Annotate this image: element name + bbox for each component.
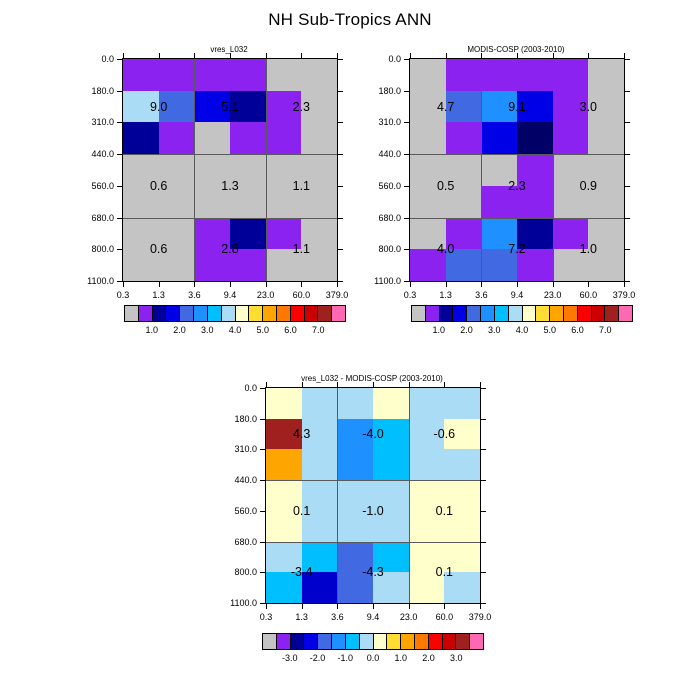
heatmap-cell <box>517 59 553 91</box>
heatmap-cell <box>266 218 302 250</box>
y-axis-tick <box>480 480 486 481</box>
y-axis-tick-label: 0.0 <box>244 383 257 393</box>
y-axis-tick <box>117 154 123 155</box>
x-axis-tick <box>266 603 267 609</box>
heatmap-cell <box>301 218 337 250</box>
x-axis-tick-label: 9.4 <box>511 290 524 300</box>
heatmap-cell <box>553 59 589 91</box>
x-axis-tick <box>481 281 482 287</box>
panel-obs-title: MODIS-COSP (2003-2010) <box>409 45 623 54</box>
heatmap-cell <box>302 480 338 511</box>
difference-colorbar-strip <box>262 633 484 650</box>
heatmap-cell <box>266 449 302 480</box>
y-axis-tick-label: 180.0 <box>234 414 257 424</box>
colorbar-swatch <box>222 306 236 321</box>
x-axis-tick-label: 379.0 <box>469 612 492 622</box>
x-axis-tick <box>337 53 338 59</box>
x-axis-tick <box>446 281 447 287</box>
heatmap-cell <box>409 480 445 511</box>
colorbar-swatch <box>263 634 277 649</box>
heatmap-cell <box>266 122 302 154</box>
heatmap-cell <box>266 249 302 281</box>
colorbar-swatch <box>429 634 443 649</box>
heatmap-cell <box>159 59 195 91</box>
heatmap-cell <box>230 186 266 218</box>
heatmap-cell <box>373 419 409 450</box>
figure-title: NH Sub-Tropics ANN <box>0 10 700 30</box>
heatmap-cell <box>481 186 517 218</box>
y-axis-tick <box>480 511 486 512</box>
colorbar-tick-label: 7.0 <box>599 325 612 335</box>
colorbar-swatch <box>550 306 564 321</box>
heatmap-cell <box>230 154 266 186</box>
heatmap-cell <box>230 249 266 281</box>
heatmap-cell <box>410 186 446 218</box>
x-axis-tick <box>373 382 374 388</box>
heatmap-cell <box>588 91 624 123</box>
y-axis-tick-label: 680.0 <box>234 537 257 547</box>
colorbar-swatch <box>495 306 509 321</box>
heatmap-cell <box>517 91 553 123</box>
y-axis-tick <box>480 388 486 389</box>
heatmap-cell <box>588 122 624 154</box>
heatmap-cell <box>446 154 482 186</box>
colorbar-swatch <box>415 634 429 649</box>
x-axis-tick <box>410 53 411 59</box>
heatmap-cell <box>373 511 409 542</box>
colorbar-swatch <box>523 306 537 321</box>
colorbar-tick-label: 6.0 <box>284 325 297 335</box>
x-axis-tick-label: 0.3 <box>404 290 417 300</box>
panel-difference: vres_L032 - MODIS-COSP (2003-2010) 4.3-4… <box>265 387 479 602</box>
x-axis-tick <box>266 281 267 287</box>
x-axis-tick <box>194 53 195 59</box>
heatmap-cell <box>230 122 266 154</box>
heatmap-cell <box>410 218 446 250</box>
heatmap-cell <box>302 388 338 419</box>
y-axis-tick <box>260 542 266 543</box>
y-axis-tick-label: 0.0 <box>388 54 401 64</box>
colorbar-swatch <box>387 634 401 649</box>
y-axis-tick-label: 440.0 <box>378 149 401 159</box>
y-axis-tick-label: 180.0 <box>91 86 114 96</box>
y-axis-tick <box>404 249 410 250</box>
x-axis-tick <box>517 53 518 59</box>
heatmap-cell <box>194 154 230 186</box>
panel-obs-plot: 4.79.13.00.52.30.94.07.21.0 0.0180.0310.… <box>409 58 625 282</box>
colorbar-tick-label: 3.0 <box>201 325 214 335</box>
heatmap-cell <box>301 186 337 218</box>
colorbar-swatch <box>346 634 360 649</box>
heatmap-cell <box>444 511 480 542</box>
x-axis-tick-label: 379.0 <box>613 290 636 300</box>
y-axis-tick-label: 440.0 <box>234 475 257 485</box>
x-axis-tick <box>517 281 518 287</box>
y-axis-tick-label: 0.0 <box>101 54 114 64</box>
heatmap-cell <box>194 218 230 250</box>
panel-model-title: vres_L032 <box>122 45 336 54</box>
colorbar-swatch <box>619 306 632 321</box>
x-axis-tick <box>409 603 410 609</box>
colorbar-tick-label: 2.0 <box>422 653 435 663</box>
x-axis-tick-label: 23.0 <box>257 290 275 300</box>
y-axis-tick <box>117 186 123 187</box>
y-axis-tick <box>117 122 123 123</box>
model-colorbar-strip <box>124 305 346 322</box>
obs-colorbar-strip <box>411 305 633 322</box>
y-axis-tick-label: 560.0 <box>234 506 257 516</box>
x-axis-tick-label: 60.0 <box>293 290 311 300</box>
colorbar-swatch <box>374 634 388 649</box>
heatmap-cell <box>337 572 373 603</box>
heatmap-cell <box>337 388 373 419</box>
x-axis-tick-label: 60.0 <box>580 290 598 300</box>
colorbar-tick-label: 1.0 <box>145 325 158 335</box>
panel-model: vres_L032 9.05.12.30.61.31.10.62.81.1 0.… <box>122 58 336 280</box>
heatmap-cell <box>230 59 266 91</box>
heatmap-cell <box>194 59 230 91</box>
colorbar-tick-label: 2.0 <box>173 325 186 335</box>
x-axis-tick-label: 1.3 <box>439 290 452 300</box>
x-axis-tick <box>588 53 589 59</box>
heatmap-cell <box>588 59 624 91</box>
colorbar-swatch <box>443 634 457 649</box>
heatmap-cell <box>123 249 159 281</box>
x-axis-tick-label: 23.0 <box>544 290 562 300</box>
y-axis-tick <box>337 91 343 92</box>
heatmap-cell <box>123 122 159 154</box>
heatmap-cell <box>553 122 589 154</box>
x-axis-tick-label: 9.4 <box>367 612 380 622</box>
y-axis-tick-label: 1100.0 <box>374 276 401 286</box>
y-axis-tick <box>117 91 123 92</box>
heatmap-cell <box>410 59 446 91</box>
y-axis-tick-label: 180.0 <box>378 86 401 96</box>
heatmap-cell <box>337 449 373 480</box>
colorbar-swatch <box>536 306 550 321</box>
colorbar-swatch <box>153 306 167 321</box>
heatmap-cell <box>301 249 337 281</box>
x-axis-tick <box>480 603 481 609</box>
heatmap-cell <box>481 59 517 91</box>
heatmap-cell <box>266 511 302 542</box>
heatmap-cell <box>302 449 338 480</box>
heatmap-cell <box>230 91 266 123</box>
panel-difference-plot: 4.3-4.0-0.60.1-1.00.1-3.4-4.30.1 0.0180.… <box>265 387 481 604</box>
heatmap-cell <box>194 186 230 218</box>
y-axis-tick <box>480 542 486 543</box>
x-axis-tick-label: 3.6 <box>188 290 201 300</box>
heatmap-cell <box>588 154 624 186</box>
panel-model-cells <box>123 59 337 281</box>
heatmap-cell <box>266 91 302 123</box>
heatmap-cell <box>194 249 230 281</box>
heatmap-cell <box>410 91 446 123</box>
panel-obs-cells <box>410 59 624 281</box>
x-axis-tick <box>159 53 160 59</box>
colorbar-tick-label: 4.0 <box>229 325 242 335</box>
x-axis-tick <box>337 382 338 388</box>
heatmap-cell <box>409 419 445 450</box>
y-axis-tick <box>337 218 343 219</box>
colorbar-swatch <box>263 306 277 321</box>
y-axis-tick-label: 800.0 <box>234 567 257 577</box>
x-axis-tick <box>301 281 302 287</box>
x-axis-tick <box>230 281 231 287</box>
colorbar-tick-label: 2.0 <box>460 325 473 335</box>
colorbar-swatch <box>125 306 139 321</box>
y-axis-tick <box>117 249 123 250</box>
x-axis-tick <box>444 382 445 388</box>
colorbar-tick-label: 6.0 <box>571 325 584 335</box>
colorbar-tick-label: 1.0 <box>394 653 407 663</box>
y-axis-tick <box>624 186 630 187</box>
colorbar-tick-label: -2.0 <box>310 653 326 663</box>
x-axis-tick <box>624 281 625 287</box>
colorbar-swatch <box>249 306 263 321</box>
colorbar-swatch <box>456 634 470 649</box>
colorbar-swatch <box>139 306 153 321</box>
heatmap-cell <box>159 218 195 250</box>
heatmap-cell <box>159 249 195 281</box>
colorbar-swatch <box>481 306 495 321</box>
y-axis-tick <box>337 186 343 187</box>
x-axis-tick-label: 3.6 <box>475 290 488 300</box>
heatmap-cell <box>553 218 589 250</box>
heatmap-cell <box>446 249 482 281</box>
panel-model-plot: 9.05.12.30.61.31.10.62.81.1 0.0180.0310.… <box>122 58 338 282</box>
heatmap-cell <box>446 91 482 123</box>
colorbar-swatch <box>236 306 250 321</box>
y-axis-tick-label: 800.0 <box>378 244 401 254</box>
colorbar-swatch <box>208 306 222 321</box>
x-axis-tick <box>480 382 481 388</box>
heatmap-cell <box>444 388 480 419</box>
colorbar-tick-label: 5.0 <box>543 325 556 335</box>
y-axis-tick <box>624 249 630 250</box>
heatmap-cell <box>373 480 409 511</box>
y-axis-tick <box>260 480 266 481</box>
colorbar-swatch <box>166 306 180 321</box>
colorbar-tick-label: -3.0 <box>282 653 298 663</box>
x-axis-tick-label: 0.3 <box>260 612 273 622</box>
x-axis-tick <box>373 603 374 609</box>
y-axis-tick <box>624 91 630 92</box>
colorbar-swatch <box>194 306 208 321</box>
heatmap-cell <box>444 542 480 573</box>
heatmap-cell <box>373 449 409 480</box>
x-axis-tick <box>337 281 338 287</box>
colorbar-swatch <box>412 306 426 321</box>
heatmap-cell <box>409 572 445 603</box>
heatmap-cell <box>444 572 480 603</box>
heatmap-cell <box>409 388 445 419</box>
heatmap-cell <box>123 91 159 123</box>
colorbar-swatch <box>180 306 194 321</box>
x-axis-tick-label: 379.0 <box>326 290 349 300</box>
y-axis-tick <box>260 388 266 389</box>
x-axis-tick <box>553 53 554 59</box>
colorbar-swatch <box>318 306 332 321</box>
y-axis-tick-label: 680.0 <box>91 213 114 223</box>
heatmap-cell <box>230 218 266 250</box>
y-axis-tick <box>404 186 410 187</box>
heatmap-cell <box>446 186 482 218</box>
heatmap-cell <box>159 91 195 123</box>
panel-obs: MODIS-COSP (2003-2010) 4.79.13.00.52.30.… <box>409 58 623 280</box>
heatmap-cell <box>337 542 373 573</box>
heatmap-cell <box>553 249 589 281</box>
colorbar-swatch <box>470 634 483 649</box>
x-axis-tick <box>446 53 447 59</box>
y-axis-tick <box>260 449 266 450</box>
heatmap-cell <box>159 154 195 186</box>
y-axis-tick <box>480 572 486 573</box>
x-axis-tick <box>409 382 410 388</box>
x-axis-tick <box>588 281 589 287</box>
colorbar-swatch <box>332 634 346 649</box>
colorbar-swatch <box>304 634 318 649</box>
colorbar-tick-label: 4.0 <box>516 325 529 335</box>
heatmap-cell <box>517 249 553 281</box>
heatmap-cell <box>517 122 553 154</box>
x-axis-tick-label: 9.4 <box>224 290 237 300</box>
heatmap-cell <box>588 218 624 250</box>
heatmap-cell <box>481 154 517 186</box>
y-axis-tick <box>117 218 123 219</box>
colorbar-swatch <box>426 306 440 321</box>
y-axis-tick <box>260 511 266 512</box>
heatmap-cell <box>409 449 445 480</box>
x-axis-tick <box>444 603 445 609</box>
heatmap-cell <box>123 218 159 250</box>
x-axis-tick-label: 1.3 <box>295 612 308 622</box>
heatmap-cell <box>444 449 480 480</box>
x-axis-tick <box>230 53 231 59</box>
heatmap-cell <box>517 154 553 186</box>
heatmap-cell <box>266 419 302 450</box>
heatmap-cell <box>266 388 302 419</box>
heatmap-cell <box>446 59 482 91</box>
y-axis-tick <box>480 449 486 450</box>
heatmap-cell <box>266 59 302 91</box>
heatmap-cell <box>481 249 517 281</box>
colorbar-swatch <box>277 306 291 321</box>
colorbar-swatch <box>305 306 319 321</box>
colorbar-swatch <box>291 634 305 649</box>
heatmap-cell <box>266 480 302 511</box>
heatmap-cell <box>517 186 553 218</box>
x-axis-tick <box>123 281 124 287</box>
heatmap-cell <box>481 122 517 154</box>
heatmap-cell <box>446 122 482 154</box>
heatmap-cell <box>588 249 624 281</box>
heatmap-cell <box>337 480 373 511</box>
heatmap-cell <box>123 186 159 218</box>
y-axis-tick <box>337 249 343 250</box>
colorbar-swatch <box>605 306 619 321</box>
heatmap-cell <box>301 122 337 154</box>
x-axis-tick-label: 3.6 <box>331 612 344 622</box>
colorbar-swatch <box>440 306 454 321</box>
colorbar-tick-label: -1.0 <box>337 653 353 663</box>
heatmap-cell <box>553 91 589 123</box>
heatmap-cell <box>337 419 373 450</box>
y-axis-tick <box>624 59 630 60</box>
y-axis-tick <box>624 122 630 123</box>
x-axis-tick <box>266 382 267 388</box>
x-axis-tick-label: 0.3 <box>117 290 130 300</box>
panel-difference-title: vres_L032 - MODIS-COSP (2003-2010) <box>265 374 479 383</box>
colorbar-swatch <box>332 306 345 321</box>
heatmap-cell <box>481 91 517 123</box>
y-axis-tick <box>337 122 343 123</box>
heatmap-cell <box>444 419 480 450</box>
colorbar-swatch <box>453 306 467 321</box>
x-axis-tick <box>302 382 303 388</box>
colorbar-swatch <box>401 634 415 649</box>
heatmap-cell <box>373 542 409 573</box>
x-axis-tick <box>302 603 303 609</box>
y-axis-tick-label: 1100.0 <box>230 598 257 608</box>
heatmap-cell <box>444 480 480 511</box>
y-axis-tick <box>404 59 410 60</box>
heatmap-cell <box>302 419 338 450</box>
heatmap-cell <box>194 91 230 123</box>
y-axis-tick <box>404 91 410 92</box>
y-axis-tick <box>260 419 266 420</box>
heatmap-cell <box>410 122 446 154</box>
y-axis-tick-label: 560.0 <box>91 181 114 191</box>
colorbar-swatch <box>592 306 606 321</box>
colorbar-tick-label: 7.0 <box>312 325 325 335</box>
heatmap-cell <box>266 154 302 186</box>
x-axis-tick <box>624 53 625 59</box>
x-axis-tick <box>337 603 338 609</box>
y-axis-tick <box>624 154 630 155</box>
x-axis-tick-label: 60.0 <box>436 612 454 622</box>
y-axis-tick <box>117 59 123 60</box>
heatmap-cell <box>446 218 482 250</box>
x-axis-tick <box>481 53 482 59</box>
colorbar-swatch <box>467 306 481 321</box>
colorbar-swatch <box>291 306 305 321</box>
heatmap-cell <box>301 59 337 91</box>
heatmap-cell <box>553 186 589 218</box>
y-axis-tick-label: 800.0 <box>91 244 114 254</box>
y-axis-tick-label: 310.0 <box>234 444 257 454</box>
colorbar-swatch <box>509 306 523 321</box>
y-axis-tick-label: 440.0 <box>91 149 114 159</box>
y-axis-tick <box>404 218 410 219</box>
heatmap-cell <box>266 186 302 218</box>
colorbar-swatch <box>564 306 578 321</box>
heatmap-cell <box>337 511 373 542</box>
x-axis-tick <box>301 53 302 59</box>
heatmap-cell <box>302 542 338 573</box>
x-axis-tick-label: 1.3 <box>152 290 165 300</box>
heatmap-cell <box>266 542 302 573</box>
heatmap-cell <box>588 186 624 218</box>
y-axis-tick <box>337 154 343 155</box>
colorbar-tick-label: 5.0 <box>256 325 269 335</box>
colorbar-swatch <box>360 634 374 649</box>
heatmap-cell <box>481 218 517 250</box>
colorbar-swatch <box>318 634 332 649</box>
heatmap-cell <box>373 388 409 419</box>
heatmap-cell <box>194 122 230 154</box>
colorbar-swatch <box>277 634 291 649</box>
